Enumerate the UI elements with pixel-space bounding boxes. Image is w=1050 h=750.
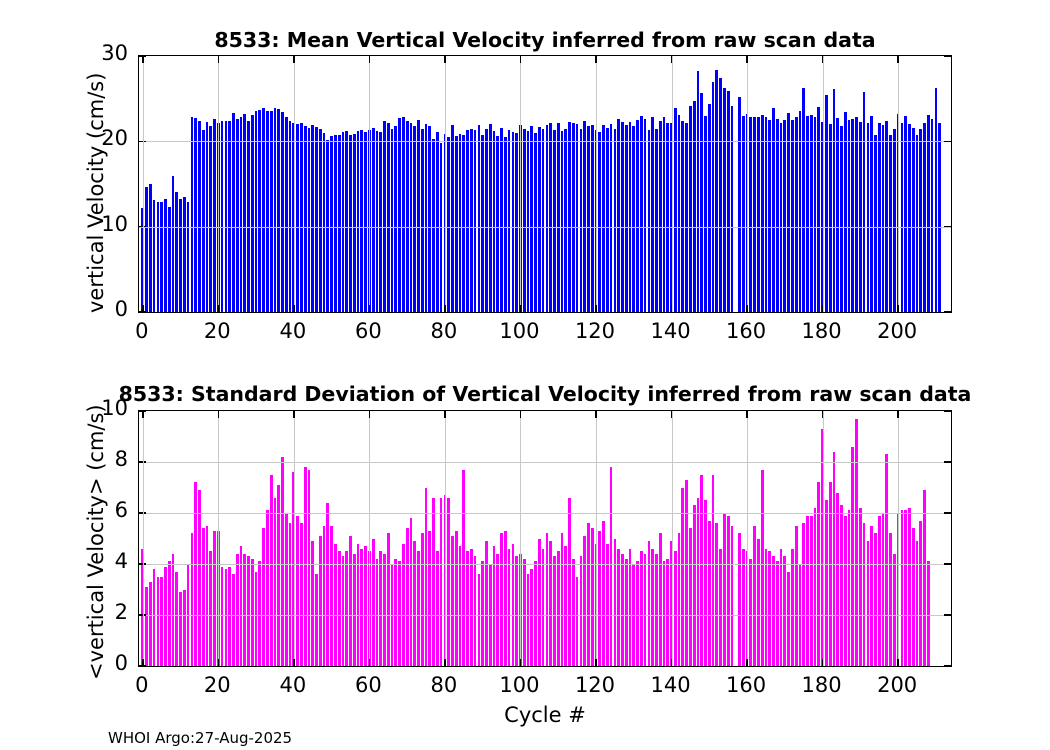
- bar: [413, 126, 416, 312]
- bar: [542, 129, 545, 312]
- xtick-label: 200: [852, 319, 942, 343]
- bar: [640, 551, 643, 666]
- bar: [772, 108, 775, 312]
- bar: [334, 544, 337, 666]
- tick-mark-x: [520, 659, 522, 666]
- bar: [172, 176, 175, 312]
- figure-canvas: 8533: Mean Vertical Velocity inferred fr…: [0, 0, 1050, 750]
- bar: [349, 135, 352, 312]
- bar: [421, 129, 424, 312]
- bar: [153, 569, 156, 666]
- bar: [376, 559, 379, 666]
- gridline-vertical: [898, 56, 899, 312]
- gridline-horizontal: [139, 227, 951, 228]
- bar: [802, 523, 805, 666]
- bar: [885, 454, 888, 666]
- bar: [602, 125, 605, 312]
- bar: [685, 123, 688, 312]
- bar: [183, 590, 186, 667]
- bar: [428, 531, 431, 666]
- bar: [749, 559, 752, 666]
- gridline-vertical: [747, 411, 748, 666]
- bar: [795, 526, 798, 666]
- bar: [508, 549, 511, 666]
- gridline-vertical: [143, 411, 144, 666]
- bar: [470, 549, 473, 666]
- tick-mark-x: [671, 411, 673, 418]
- bar: [394, 126, 397, 312]
- bar: [289, 121, 292, 312]
- bar: [765, 549, 768, 666]
- tick-mark-x: [444, 659, 446, 666]
- bar: [738, 533, 741, 666]
- tick-mark-x: [218, 659, 220, 666]
- bar: [904, 510, 907, 666]
- bar: [262, 108, 265, 312]
- bar: [504, 531, 507, 666]
- gridline-vertical: [823, 56, 824, 312]
- bar: [489, 124, 492, 312]
- bar: [538, 539, 541, 667]
- tick-mark-x: [671, 56, 673, 63]
- bar: [591, 125, 594, 312]
- bar: [674, 108, 677, 312]
- bar: [311, 541, 314, 666]
- bar: [428, 126, 431, 312]
- bar: [561, 131, 564, 312]
- bar: [772, 556, 775, 666]
- bar: [648, 130, 651, 312]
- xtick-label: 200: [852, 673, 942, 697]
- bar: [810, 516, 813, 666]
- gridline-horizontal: [139, 141, 951, 142]
- bar: [719, 78, 722, 312]
- bar: [372, 128, 375, 312]
- bar: [561, 533, 564, 666]
- bar: [481, 135, 484, 312]
- bar: [406, 121, 409, 312]
- bar: [931, 119, 934, 312]
- bar: [901, 510, 904, 666]
- bar: [829, 482, 832, 666]
- bar: [398, 561, 401, 666]
- bar: [440, 498, 443, 666]
- bar: [187, 202, 190, 312]
- bar: [867, 541, 870, 666]
- bar: [304, 126, 307, 312]
- bar: [904, 116, 907, 312]
- bar: [417, 120, 420, 312]
- gridline-vertical: [520, 411, 521, 666]
- sd-plot-axes: [138, 410, 952, 667]
- gridline-vertical: [445, 56, 446, 312]
- gridline-vertical: [747, 56, 748, 312]
- bar: [391, 129, 394, 312]
- bar: [436, 132, 439, 312]
- bar: [836, 493, 839, 666]
- tick-mark-x: [293, 305, 295, 312]
- bar: [451, 536, 454, 666]
- bar: [410, 518, 413, 666]
- bar: [319, 129, 322, 312]
- tick-mark-y: [944, 665, 951, 667]
- bar: [855, 117, 858, 312]
- bar: [863, 92, 866, 312]
- bar: [787, 572, 790, 666]
- bar: [462, 470, 465, 666]
- bar: [209, 551, 212, 666]
- bar: [580, 129, 583, 312]
- bar: [240, 117, 243, 312]
- bar: [878, 123, 881, 312]
- bar: [527, 131, 530, 312]
- bar: [194, 482, 197, 666]
- bar: [546, 125, 549, 312]
- bar: [840, 126, 843, 312]
- bar: [225, 121, 228, 312]
- bar: [376, 131, 379, 312]
- bar: [357, 131, 360, 312]
- bar: [417, 551, 420, 666]
- bar: [523, 129, 526, 312]
- bar: [191, 117, 194, 312]
- bar: [304, 467, 307, 666]
- bar: [530, 126, 533, 312]
- bar: [527, 574, 530, 666]
- bar: [863, 523, 866, 666]
- tick-mark-x: [218, 411, 220, 418]
- bar: [202, 130, 205, 312]
- bar: [255, 572, 258, 666]
- bar: [228, 121, 231, 312]
- bar: [326, 503, 329, 666]
- tick-mark-x: [142, 659, 144, 666]
- tick-mark-y: [944, 512, 951, 514]
- bar: [708, 104, 711, 312]
- bar: [723, 513, 726, 666]
- bar: [500, 128, 503, 312]
- bar: [323, 526, 326, 666]
- tick-mark-x: [822, 305, 824, 312]
- tick-mark-x: [520, 56, 522, 63]
- tick-mark-x: [671, 305, 673, 312]
- bar: [870, 526, 873, 666]
- tick-mark-x: [218, 56, 220, 63]
- bar: [587, 126, 590, 312]
- bar: [825, 95, 828, 312]
- bar: [583, 121, 586, 312]
- bar: [700, 93, 703, 312]
- bar: [901, 123, 904, 312]
- bar: [629, 549, 632, 666]
- bar: [697, 71, 700, 312]
- tick-mark-x: [142, 411, 144, 418]
- gridline-horizontal: [139, 462, 951, 463]
- tick-mark-x: [595, 659, 597, 666]
- gridline-vertical: [596, 56, 597, 312]
- bar: [191, 533, 194, 666]
- tick-mark-y: [944, 410, 951, 412]
- bar: [738, 97, 741, 312]
- bar: [157, 577, 160, 666]
- bar: [840, 505, 843, 666]
- gridline-horizontal: [139, 513, 951, 514]
- bar: [663, 561, 666, 666]
- bar: [666, 559, 669, 666]
- bar: [889, 135, 892, 312]
- bar: [708, 521, 711, 666]
- ytick-label: 4: [0, 549, 128, 573]
- bar: [833, 452, 836, 666]
- bar: [787, 113, 790, 312]
- bar: [704, 500, 707, 666]
- bar: [262, 528, 265, 666]
- bar: [470, 129, 473, 312]
- bar: [247, 121, 250, 312]
- bar: [923, 490, 926, 666]
- tick-mark-x: [142, 305, 144, 312]
- bar: [817, 482, 820, 666]
- bar: [425, 488, 428, 667]
- bar: [908, 124, 911, 312]
- bar: [591, 528, 594, 666]
- bar: [768, 120, 771, 312]
- gridline-vertical: [369, 56, 370, 312]
- bar: [882, 513, 885, 666]
- bar: [338, 135, 341, 312]
- mean-plot-axes: [138, 55, 952, 313]
- bar: [360, 549, 363, 666]
- tick-mark-x: [444, 56, 446, 63]
- tick-mark-x: [822, 659, 824, 666]
- bar: [383, 121, 386, 312]
- bar: [621, 122, 624, 312]
- ytick-label: 20: [0, 126, 128, 150]
- bar: [485, 541, 488, 666]
- bar: [379, 132, 382, 312]
- bar: [455, 136, 458, 312]
- bar: [353, 554, 356, 666]
- gridline-vertical: [218, 56, 219, 312]
- bar: [149, 184, 152, 312]
- bar: [549, 123, 552, 312]
- bar: [145, 587, 148, 666]
- bar: [410, 123, 413, 312]
- ytick-label: 10: [0, 212, 128, 236]
- bar: [243, 114, 246, 312]
- bar: [882, 125, 885, 312]
- bar: [236, 119, 239, 312]
- bar: [508, 130, 511, 312]
- bar: [674, 551, 677, 666]
- bar: [568, 122, 571, 312]
- bar: [829, 124, 832, 312]
- bar: [512, 544, 515, 666]
- bar: [874, 135, 877, 312]
- bar: [780, 123, 783, 312]
- bar: [719, 549, 722, 666]
- bar: [935, 88, 938, 312]
- tick-mark-x: [746, 56, 748, 63]
- bar: [515, 556, 518, 666]
- bar: [258, 561, 261, 666]
- bar: [753, 117, 756, 312]
- bar: [168, 561, 171, 666]
- bar: [614, 129, 617, 312]
- ytick-label: 0: [0, 651, 128, 675]
- tick-mark-x: [822, 56, 824, 63]
- bar: [172, 554, 175, 666]
- bar: [251, 115, 254, 312]
- tick-mark-x: [369, 305, 371, 312]
- tick-mark-x: [444, 411, 446, 418]
- bar: [576, 124, 579, 312]
- bar: [232, 113, 235, 312]
- bar: [504, 137, 507, 312]
- bar: [342, 132, 345, 312]
- bar: [689, 528, 692, 666]
- bar: [206, 122, 209, 312]
- bar: [802, 88, 805, 312]
- bar: [655, 554, 658, 666]
- bar: [236, 554, 239, 666]
- sd-plot-bars: [139, 411, 951, 666]
- bar: [776, 561, 779, 666]
- bar: [308, 128, 311, 312]
- bar: [727, 91, 730, 312]
- tick-mark-x: [897, 56, 899, 63]
- mean-plot-ylabel: vertical Velocity (cm/s): [84, 55, 108, 313]
- bar: [160, 202, 163, 312]
- tick-mark-x: [369, 411, 371, 418]
- bar: [651, 117, 654, 312]
- gridline-vertical: [898, 411, 899, 666]
- bar: [462, 135, 465, 312]
- mean-plot-title: 8533: Mean Vertical Velocity inferred fr…: [138, 28, 952, 52]
- bar: [923, 123, 926, 312]
- bar: [164, 199, 167, 312]
- bar: [859, 122, 862, 312]
- bar: [145, 187, 148, 312]
- tick-mark-x: [293, 56, 295, 63]
- bar: [496, 136, 499, 312]
- bar: [557, 551, 560, 666]
- tick-mark-x: [595, 305, 597, 312]
- tick-mark-y: [944, 55, 951, 57]
- gridline-horizontal: [139, 615, 951, 616]
- bar: [175, 192, 178, 312]
- bar: [663, 117, 666, 312]
- tick-mark-x: [369, 659, 371, 666]
- bar: [700, 475, 703, 666]
- bar: [296, 124, 299, 312]
- bar: [621, 554, 624, 666]
- bar: [806, 116, 809, 312]
- bar: [610, 124, 613, 312]
- bar: [198, 121, 201, 312]
- bar: [666, 123, 669, 312]
- tick-mark-x: [293, 659, 295, 666]
- bar: [753, 526, 756, 666]
- bar: [157, 202, 160, 312]
- bar: [848, 120, 851, 312]
- bar: [455, 531, 458, 666]
- bar: [232, 574, 235, 666]
- bar: [447, 498, 450, 666]
- gridline-vertical: [294, 411, 295, 666]
- bar: [274, 108, 277, 312]
- tick-mark-x: [671, 659, 673, 666]
- tick-mark-x: [746, 305, 748, 312]
- bar: [636, 561, 639, 666]
- bar: [568, 498, 571, 666]
- mean-plot-bars: [139, 56, 951, 312]
- bar: [742, 549, 745, 666]
- bar: [851, 447, 854, 666]
- bar: [715, 70, 718, 312]
- bar: [202, 528, 205, 666]
- bar: [266, 510, 269, 666]
- bar: [406, 528, 409, 666]
- sd-plot-title: 8533: Standard Deviation of Vertical Vel…: [68, 382, 1022, 406]
- ytick-label: 0: [0, 297, 128, 321]
- bar: [349, 536, 352, 666]
- bar: [678, 533, 681, 666]
- bar: [402, 544, 405, 666]
- bar: [927, 115, 930, 312]
- bar: [640, 116, 643, 312]
- bar: [225, 569, 228, 666]
- bar: [689, 106, 692, 312]
- bar: [300, 123, 303, 312]
- bar: [564, 129, 567, 312]
- bar: [867, 123, 870, 312]
- bar: [916, 135, 919, 312]
- ytick-label: 2: [0, 600, 128, 624]
- tick-mark-y: [944, 226, 951, 228]
- bar: [481, 561, 484, 666]
- bar: [315, 127, 318, 312]
- bar: [168, 207, 171, 312]
- bar: [636, 120, 639, 312]
- bar: [383, 554, 386, 666]
- bar: [685, 480, 688, 666]
- bar: [338, 551, 341, 666]
- bar: [342, 556, 345, 666]
- ytick-label: 30: [0, 41, 128, 65]
- tick-mark-x: [520, 305, 522, 312]
- bar: [311, 125, 314, 312]
- bar: [274, 498, 277, 666]
- tick-mark-x: [746, 659, 748, 666]
- tick-mark-x: [444, 305, 446, 312]
- bar: [704, 116, 707, 312]
- bar: [553, 556, 556, 666]
- sd-plot-xlabel: Cycle #: [138, 703, 952, 727]
- bar: [768, 551, 771, 666]
- ytick-label: 6: [0, 498, 128, 522]
- bar: [681, 488, 684, 667]
- bar: [712, 82, 715, 312]
- bar: [289, 523, 292, 666]
- bar: [780, 549, 783, 666]
- bar: [478, 125, 481, 312]
- bar: [285, 117, 288, 312]
- bar: [372, 539, 375, 667]
- bar: [919, 129, 922, 312]
- bar: [251, 559, 254, 666]
- ytick-label: 8: [0, 447, 128, 471]
